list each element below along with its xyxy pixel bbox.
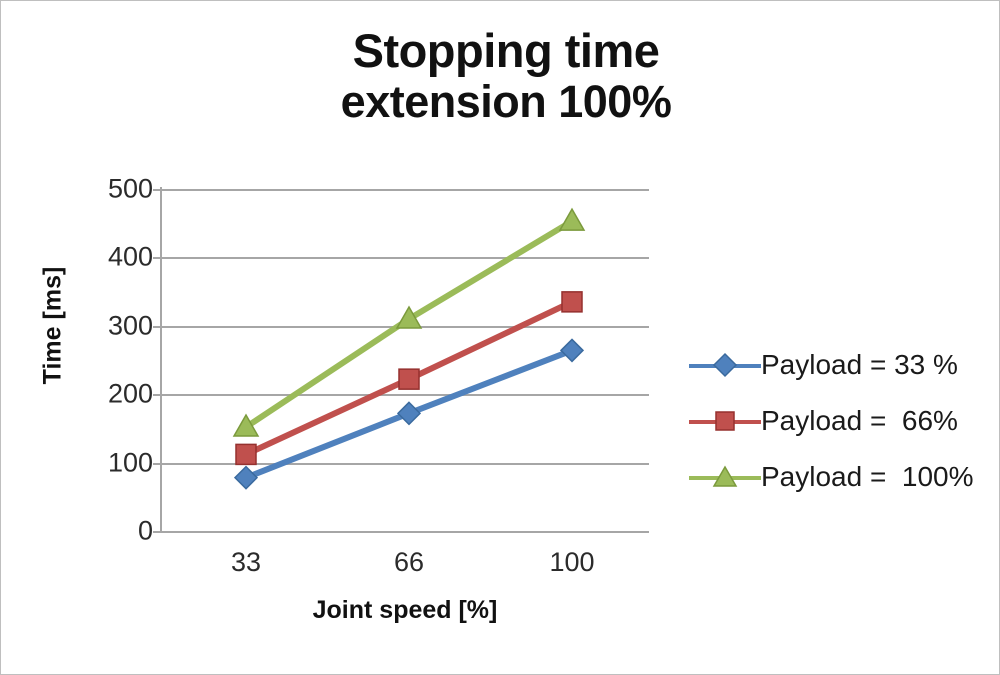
diamond-marker-icon [711,351,739,379]
chart-title: Stopping time extension 100% [161,27,851,125]
x-axis-title: Joint speed [%] [161,596,649,625]
chart-figure: Stopping time extension 100% Time [ms] 5… [0,0,1000,675]
y-tick-mark-400 [153,257,160,259]
y-tick-mark-300 [153,326,160,328]
gridline-300 [161,326,649,328]
legend-label-payload-66: Payload = 66% [761,405,958,437]
legend-key-green-triangle [689,465,761,489]
legend-entry-payload-100[interactable]: Payload = 100% [689,449,989,505]
gridline-400 [161,257,649,259]
gridline-0 [161,531,649,533]
y-tick-label-400: 400 [91,242,153,273]
x-tick-label-100: 100 [512,547,632,578]
legend-entry-payload-66[interactable]: Payload = 66% [689,393,989,449]
y-tick-mark-100 [153,463,160,465]
y-tick-mark-200 [153,394,160,396]
chart-title-line-1: Stopping time [161,27,851,75]
y-tick-label-0: 0 [91,516,153,547]
gridline-200 [161,394,649,396]
legend-key-red-square [689,409,761,433]
gridline-100 [161,463,649,465]
chart-title-line-2: extension 100% [161,79,851,125]
y-tick-label-300: 300 [91,310,153,341]
y-axis-title: Time [ms] [39,231,68,421]
plot-area [161,189,649,531]
gridline-500 [161,189,649,191]
legend-label-payload-33: Payload = 33 % [761,349,958,381]
y-tick-label-100: 100 [91,447,153,478]
triangle-marker-icon [711,463,739,491]
x-tick-label-33: 33 [186,547,306,578]
x-tick-label-66: 66 [349,547,469,578]
y-tick-mark-0 [153,531,160,533]
y-tick-label-500: 500 [91,174,153,205]
chart-legend: Payload = 33 % Payload = 66% Payload = 1… [689,337,989,505]
legend-entry-payload-33[interactable]: Payload = 33 % [689,337,989,393]
y-axis-tick-labels: 500 400 300 200 100 0 [81,1,153,675]
y-tick-label-200: 200 [91,379,153,410]
legend-label-payload-100: Payload = 100% [761,461,974,493]
legend-key-blue-diamond [689,353,761,377]
square-marker-icon [711,407,739,435]
y-tick-mark-500 [153,189,160,191]
